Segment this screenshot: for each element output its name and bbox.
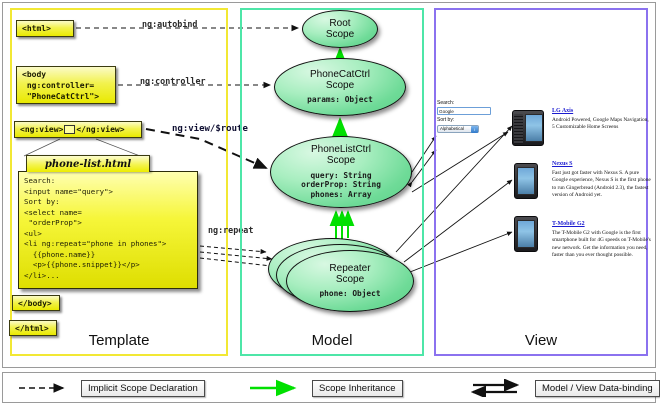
ngview-slot-icon (64, 125, 75, 134)
legend-label-databinding: Model / View Data-binding (535, 380, 660, 397)
scope-phonelistctrl-title-l2: Scope (327, 155, 355, 166)
scope-repeater: RepeaterScope phone: Object (286, 250, 414, 312)
phone-screen (517, 167, 535, 195)
scope-phonecatctrl-title-l2: Scope (326, 80, 354, 91)
scope-root-title-l1: Root (329, 18, 350, 29)
legend: Implicit Scope Declaration Scope Inherit… (2, 372, 656, 403)
legend-label-implicit: Implicit Scope Declaration (81, 380, 205, 397)
phone-screen (517, 220, 535, 248)
scope-phonecatctrl-title: PhoneCatCtrlScope (310, 69, 370, 91)
legend-label-inheritance: Scope Inheritance (312, 380, 403, 397)
chevron-updown-icon: ↕ (471, 126, 478, 133)
tag-body-open: <body ng:controller= "PhoneCatCtrl"> (16, 66, 116, 104)
panel-title-model: Model (242, 332, 422, 349)
tag-ngview-close-label: </ng:view> (76, 125, 124, 134)
phone-snippet: The T-Mobile G2 with Google is the first… (552, 230, 652, 259)
phone-thumbnail-nexus-s (514, 163, 538, 199)
search-input[interactable]: Google (437, 107, 491, 115)
double-arrow-icon (471, 379, 529, 397)
scope-root: RootScope (302, 10, 378, 48)
phone-thumbnail-tmobile-g2 (514, 216, 538, 252)
view-search-form: Search: Google Sort by: Alphabetical ↕ (437, 100, 493, 133)
scope-phonelistctrl: PhoneListCtrlScope query: String orderPr… (270, 136, 412, 208)
phone-snippet: Android Powered, Google Maps Navigation,… (552, 117, 652, 132)
scope-phonelistctrl-title: PhoneListCtrlScope (311, 144, 371, 166)
scope-phonecatctrl-title-l1: PhoneCatCtrl (310, 69, 370, 80)
phone-snippet: Fast just got faster with Nexus S. A pur… (552, 170, 652, 199)
tag-ngview-open-label: <ng:view> (20, 125, 63, 134)
label-ng-view-route: ng:view/$route (172, 124, 248, 134)
diagram-root: Template <html> <body ng:controller= "Ph… (0, 0, 660, 405)
tag-body-close: </body> (12, 295, 60, 311)
phone-thumbnail-lg-axis (512, 110, 544, 146)
legend-item-scope-inheritance: Scope Inheritance (248, 379, 403, 397)
note-phone-list-html: phone-list.html Search: <input name="que… (18, 155, 198, 293)
phone-list-item: Nexus S Fast just got faster with Nexus … (552, 161, 652, 199)
phone-name-link[interactable]: T-Mobile G2 (552, 221, 652, 227)
scope-phonelistctrl-props: query: String orderProp: String phones: … (301, 171, 381, 200)
sort-label: Sort by: (437, 117, 493, 123)
scope-phonelistctrl-title-l1: PhoneListCtrl (311, 144, 371, 155)
legend-item-implicit-scope-declaration: Implicit Scope Declaration (17, 379, 205, 397)
scope-phonecatctrl-props: params: Object (307, 95, 373, 105)
phone-list-item: LG Axis Android Powered, Google Maps Nav… (552, 108, 652, 132)
label-ng-autobind: ng:autobind (142, 19, 197, 29)
legend-item-data-binding: Model / View Data-binding (471, 379, 660, 397)
tag-html-open: <html> (16, 20, 74, 37)
note-filename: phone-list.html (26, 155, 150, 172)
panel-title-view: View (436, 332, 646, 349)
scope-root-title: RootScope (326, 18, 354, 40)
note-code: Search: <input name="query"> Sort by: <s… (18, 171, 198, 289)
scope-repeater-title-l2: Scope (336, 274, 364, 285)
sort-select[interactable]: Alphabetical ↕ (437, 125, 479, 133)
scope-repeater-props: phone: Object (319, 289, 380, 299)
scope-root-title-l2: Scope (326, 29, 354, 40)
phone-name-link[interactable]: Nexus S (552, 161, 652, 167)
solid-arrow-icon (248, 379, 306, 397)
tag-ngview: <ng:view></ng:view> (14, 121, 142, 138)
keyboard-icon (514, 114, 523, 144)
label-ng-controller: ng:controller (140, 76, 206, 86)
sort-select-value: Alphabetical (440, 125, 464, 133)
scope-repeater-title: RepeaterScope (329, 263, 370, 285)
phone-screen (525, 114, 543, 142)
phone-name-link[interactable]: LG Axis (552, 108, 652, 114)
search-label: Search: (437, 100, 493, 106)
tag-html-close: </html> (9, 320, 57, 336)
scope-phonecatctrl: PhoneCatCtrlScope params: Object (274, 58, 406, 116)
dashed-arrow-icon (17, 379, 75, 397)
scope-repeater-title-l1: Repeater (329, 263, 370, 274)
phone-list-item: T-Mobile G2 The T-Mobile G2 with Google … (552, 221, 652, 259)
